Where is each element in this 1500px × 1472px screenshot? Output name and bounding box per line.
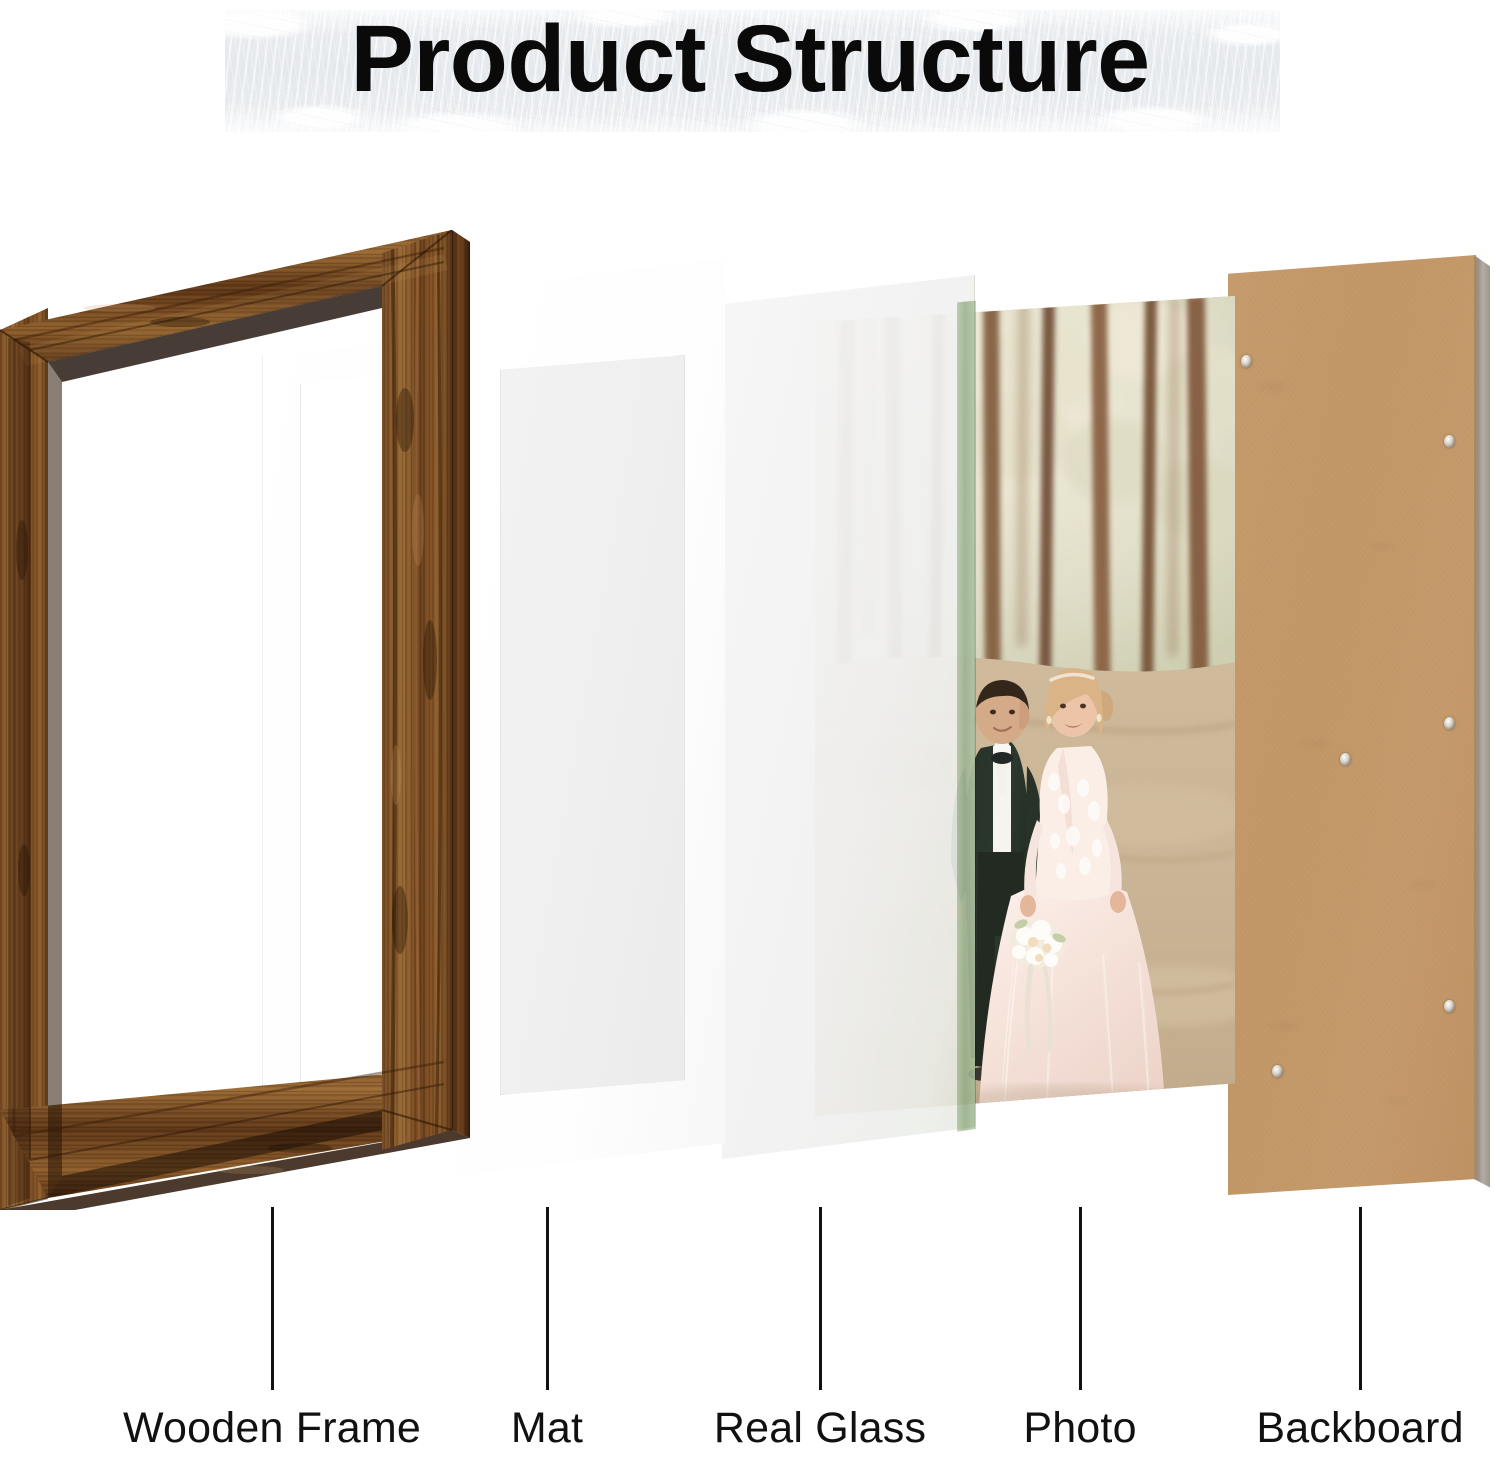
leader-line-real-glass bbox=[819, 1207, 822, 1390]
label-real-glass: Real Glass bbox=[714, 1404, 926, 1453]
callout-group: Wooden Frame Mat Real Glass Photo Backbo… bbox=[0, 0, 1500, 1472]
label-wooden-frame: Wooden Frame bbox=[123, 1404, 421, 1453]
leader-line-photo bbox=[1079, 1207, 1082, 1390]
label-mat: Mat bbox=[511, 1404, 583, 1453]
label-backboard: Backboard bbox=[1256, 1404, 1463, 1453]
leader-line-wooden-frame bbox=[271, 1207, 274, 1390]
label-photo: Photo bbox=[1023, 1404, 1136, 1453]
leader-line-mat bbox=[546, 1207, 549, 1390]
leader-line-backboard bbox=[1359, 1207, 1362, 1390]
